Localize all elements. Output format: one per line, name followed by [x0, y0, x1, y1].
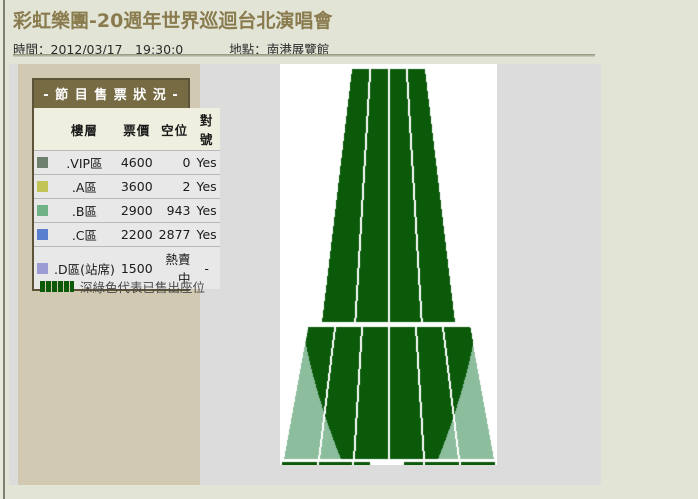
ticket-status-page: 彩虹樂團-20週年世界巡迴台北演唱會 時間：2012/03/17 19:30:0… — [0, 0, 698, 499]
row-floor: .B區 — [51, 199, 118, 223]
legend-text: 深綠色代表已售出座位 — [80, 277, 205, 296]
column-header-swatch — [34, 108, 51, 151]
ticket-table-body: .VIP區 4600 0 Yes .A區 3600 2 Yes — [34, 151, 220, 290]
a-color-swatch — [37, 181, 48, 192]
row-numbered: Yes — [193, 175, 219, 199]
row-numbered: Yes — [193, 151, 219, 175]
sidebar-panel: - 節 目 售 票 狀 況 - 樓層 票價 空位 對號 — [18, 64, 200, 485]
row-price: 4600 — [118, 151, 156, 175]
d-color-swatch — [37, 263, 48, 274]
column-header-numbered: 對號 — [193, 108, 219, 151]
vip-color-swatch — [37, 157, 48, 168]
table-header-row: 樓層 票價 空位 對號 — [34, 108, 220, 151]
venue-seating-chart[interactable] — [280, 64, 497, 465]
row-swatch-cell — [34, 199, 51, 223]
seating-chart-canvas[interactable] — [280, 64, 497, 465]
column-header-available: 空位 — [156, 108, 194, 151]
table-row[interactable]: .B區 2900 943 Yes — [34, 199, 220, 223]
table-row[interactable]: .C區 2200 2877 Yes — [34, 223, 220, 247]
row-available: 2877 — [156, 223, 194, 247]
page-title: 彩虹樂團-20週年世界巡迴台北演唱會 — [9, 0, 698, 33]
sold-seat-blocks-icon — [40, 281, 74, 292]
row-floor: .A區 — [51, 175, 118, 199]
ticket-status-table: - 節 目 售 票 狀 況 - 樓層 票價 空位 對號 — [32, 78, 190, 291]
row-available: 943 — [156, 199, 194, 223]
column-header-price: 票價 — [118, 108, 156, 151]
table-row[interactable]: .A區 3600 2 Yes — [34, 175, 220, 199]
ticket-table: 樓層 票價 空位 對號 .VIP區 4600 0 Yes — [34, 108, 220, 289]
row-numbered: Yes — [193, 223, 219, 247]
sold-legend: 深綠色代表已售出座位 — [40, 277, 205, 296]
row-numbered: Yes — [193, 199, 219, 223]
row-swatch-cell — [34, 223, 51, 247]
row-price: 2200 — [118, 223, 156, 247]
row-available: 0 — [156, 151, 194, 175]
c-color-swatch — [37, 229, 48, 240]
row-price: 2900 — [118, 199, 156, 223]
column-header-floor: 樓層 — [51, 108, 118, 151]
event-header: 彩虹樂團-20週年世界巡迴台北演唱會 時間：2012/03/17 19:30:0… — [9, 0, 698, 58]
b-color-swatch — [37, 205, 48, 216]
row-swatch-cell — [34, 175, 51, 199]
row-floor: .C區 — [51, 223, 118, 247]
table-row[interactable]: .VIP區 4600 0 Yes — [34, 151, 220, 175]
row-floor: .VIP區 — [51, 151, 118, 175]
row-available: 2 — [156, 175, 194, 199]
header-divider — [13, 54, 595, 57]
row-swatch-cell — [34, 151, 51, 175]
row-price: 3600 — [118, 175, 156, 199]
ticket-status-title: - 節 目 售 票 狀 況 - — [34, 80, 188, 108]
